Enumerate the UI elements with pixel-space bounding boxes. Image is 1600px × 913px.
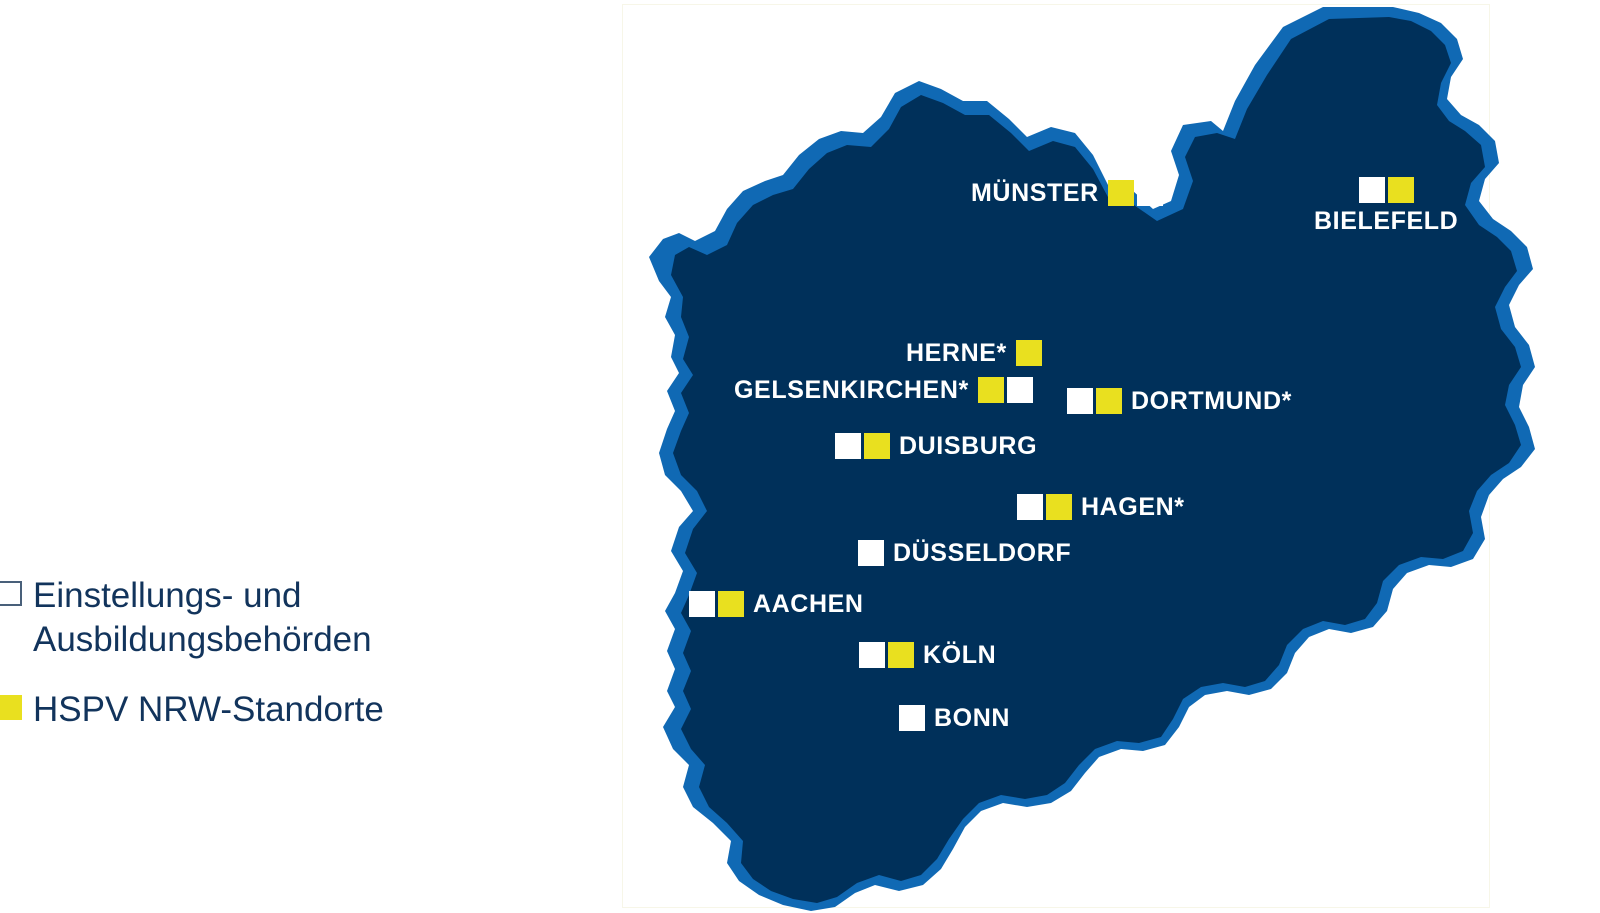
einstellungsbehoerde-swatch-icon [1017, 494, 1043, 520]
marker-swatches-bielefeld [1359, 177, 1414, 203]
einstellungsbehoerde-swatch-icon [1067, 388, 1093, 414]
marker-swatches-koeln [859, 642, 914, 668]
einstellungsbehoerde-swatch-icon [1137, 180, 1163, 206]
city-marker-gelsenkirchen[interactable]: GELSENKIRCHEN* [734, 377, 1033, 403]
marker-swatches-duisburg [835, 433, 890, 459]
map-legend: Einstellungs- und Ausbildungsbehörden HS… [0, 574, 470, 758]
nrw-land-path [671, 17, 1521, 903]
city-marker-duisburg[interactable]: DUISBURG [835, 433, 1037, 459]
city-marker-aachen[interactable]: AACHEN [689, 591, 864, 617]
einstellungsbehoerde-swatch-icon [859, 642, 885, 668]
hspv-standort-swatch-icon [718, 591, 744, 617]
hspv-standort-swatch-icon [1096, 388, 1122, 414]
city-label-bonn: BONN [934, 706, 1010, 731]
hspv-standort-swatch-icon [1016, 340, 1042, 366]
city-label-hagen: HAGEN* [1081, 495, 1185, 520]
city-marker-muenster[interactable]: MÜNSTER [971, 180, 1163, 206]
einstellungsbehoerde-swatch-icon [835, 433, 861, 459]
legend-line-2: Ausbildungsbehörden [33, 620, 372, 659]
marker-swatches-muenster [1108, 180, 1163, 206]
nrw-map-graphic [623, 5, 1600, 913]
nrw-outline-path [649, 7, 1535, 911]
einstellungsbehoerde-swatch-icon [899, 705, 925, 731]
city-label-gelsenkirchen: GELSENKIRCHEN* [734, 378, 969, 403]
marker-swatches-bonn [899, 705, 925, 731]
legend-label-hspv-standorte: HSPV NRW-Standorte [33, 688, 384, 732]
legend-outline-swatch-icon [0, 581, 22, 606]
city-marker-koeln[interactable]: KÖLN [859, 642, 996, 668]
city-marker-herne[interactable]: HERNE* [906, 340, 1042, 366]
map-panel: MÜNSTER BIELEFELD HERNE* GELSENKIRCHEN* [622, 4, 1490, 908]
legend-filled-swatch-icon [0, 695, 22, 720]
hspv-standort-swatch-icon [978, 377, 1004, 403]
city-label-duisburg: DUISBURG [899, 434, 1037, 459]
hspv-standort-swatch-icon [1046, 494, 1072, 520]
legend-label-einstellungsbehoerden: Einstellungs- und Ausbildungsbehörden [33, 574, 372, 662]
city-label-duesseldorf: DÜSSELDORF [893, 541, 1071, 566]
marker-swatches-herne [1016, 340, 1042, 366]
city-label-aachen: AACHEN [753, 592, 864, 617]
hspv-standort-swatch-icon [864, 433, 890, 459]
marker-swatches-aachen [689, 591, 744, 617]
city-marker-duesseldorf[interactable]: DÜSSELDORF [858, 540, 1071, 566]
city-label-koeln: KÖLN [923, 643, 996, 668]
city-label-bielefeld: BIELEFELD [1314, 209, 1458, 234]
einstellungsbehoerde-swatch-icon [689, 591, 715, 617]
legend-line-1: Einstellungs- und [33, 576, 302, 615]
city-marker-dortmund[interactable]: DORTMUND* [1067, 388, 1292, 414]
legend-item-hspv-standorte[interactable]: HSPV NRW-Standorte [0, 688, 470, 732]
hspv-standort-swatch-icon [888, 642, 914, 668]
marker-swatches-hagen [1017, 494, 1072, 520]
einstellungsbehoerde-swatch-icon [1007, 377, 1033, 403]
city-marker-bonn[interactable]: BONN [899, 705, 1010, 731]
city-label-dortmund: DORTMUND* [1131, 389, 1292, 414]
hspv-standort-swatch-icon [1108, 180, 1134, 206]
hspv-standort-swatch-icon [1388, 177, 1414, 203]
legend-item-einstellungsbehoerden[interactable]: Einstellungs- und Ausbildungsbehörden [0, 574, 470, 662]
einstellungsbehoerde-swatch-icon [858, 540, 884, 566]
marker-swatches-duesseldorf [858, 540, 884, 566]
city-marker-bielefeld[interactable]: BIELEFELD [1314, 177, 1458, 234]
marker-swatches-gelsenkirchen [978, 377, 1033, 403]
city-marker-hagen[interactable]: HAGEN* [1017, 494, 1185, 520]
city-label-muenster: MÜNSTER [971, 181, 1099, 206]
marker-swatches-dortmund [1067, 388, 1122, 414]
nrw-map-svg [623, 5, 1600, 913]
city-label-herne: HERNE* [906, 341, 1007, 366]
einstellungsbehoerde-swatch-icon [1359, 177, 1385, 203]
